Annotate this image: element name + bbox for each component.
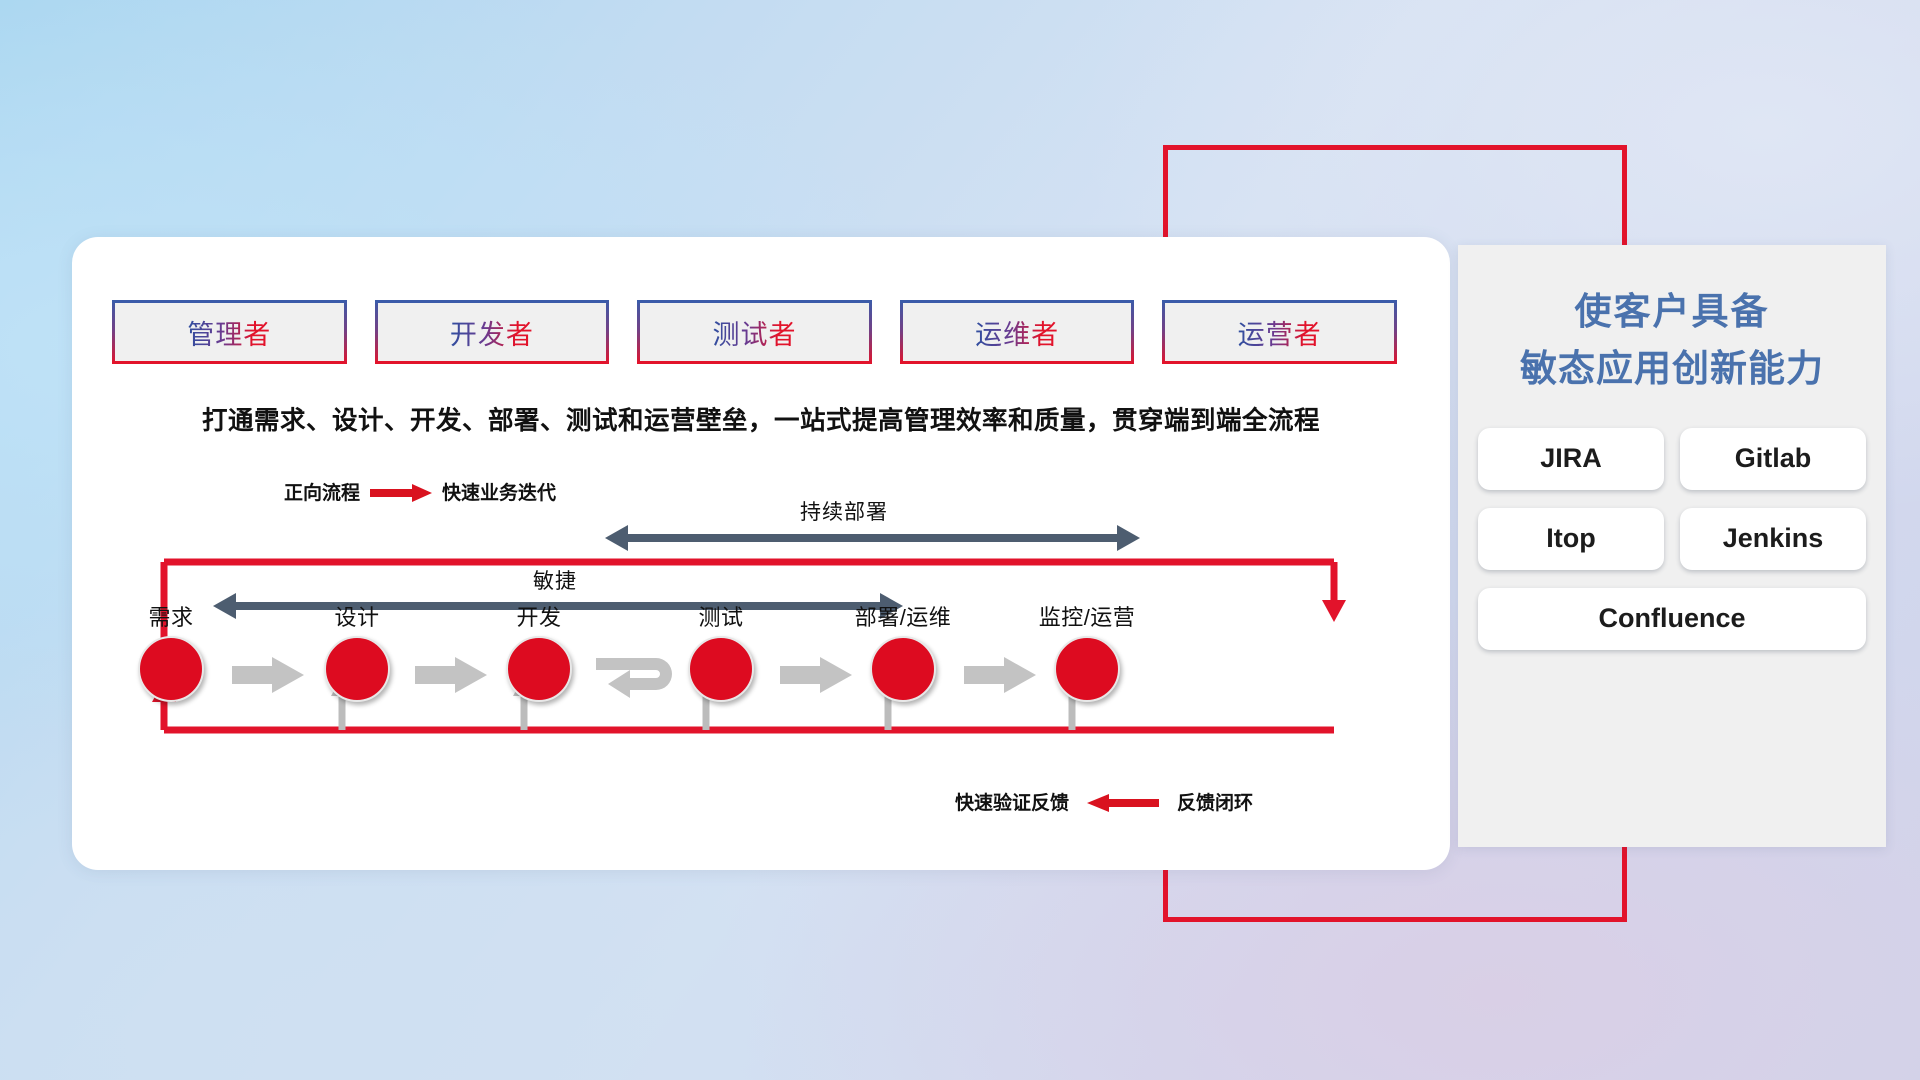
chip-bottom-border xyxy=(375,361,610,364)
chip-top-border xyxy=(375,300,610,303)
legend-forward-label: 正向流程 xyxy=(284,478,360,505)
tool-chip-gitlab[interactable]: Gitlab xyxy=(1680,428,1866,490)
legend-iteration-label: 快速业务迭代 xyxy=(442,478,556,505)
stage-deploy-ops[interactable]: 部署/运维 xyxy=(828,600,978,702)
stage-label: 设计 xyxy=(282,600,432,632)
role-label: 运营者 xyxy=(1238,313,1322,352)
band-caption-agile: 敏捷 xyxy=(533,565,577,595)
stage-label: 开发 xyxy=(464,600,614,632)
pipeline-track: 需求 设计 开发 测试 部署/运维 xyxy=(112,600,1412,720)
legend-feedback-label: 反馈闭环 xyxy=(1177,788,1253,815)
chip-top-border xyxy=(112,300,347,303)
role-chip-manager[interactable]: 管理者 xyxy=(112,300,347,364)
band-caption-continuous-deploy: 持续部署 xyxy=(800,496,888,526)
stage-label: 部署/运维 xyxy=(828,600,978,632)
chip-bottom-border xyxy=(1162,361,1397,364)
stage-design[interactable]: 设计 xyxy=(282,600,432,702)
chip-bottom-border xyxy=(637,361,872,364)
role-chip-operator[interactable]: 运维者 xyxy=(900,300,1135,364)
role-label: 运维者 xyxy=(975,313,1059,352)
legend-feedback-loop: 快速验证反馈 反馈闭环 xyxy=(955,788,1253,815)
chip-bottom-border xyxy=(900,361,1135,364)
arrow-left-red-icon xyxy=(1087,794,1159,810)
slide-canvas: 管理者 开发者 测试者 运维者 运营者 打通需求、设计、开发、部署、测试和运营壁… xyxy=(0,0,1920,1080)
tool-chip-jenkins[interactable]: Jenkins xyxy=(1680,508,1866,570)
stage-requirements[interactable]: 需求 xyxy=(96,600,246,702)
legend-forward-flow: 正向流程 快速业务迭代 xyxy=(284,478,556,505)
tool-chip-confluence[interactable]: Confluence xyxy=(1478,588,1866,650)
arrow-right-red-icon xyxy=(370,484,432,500)
stage-monitor-operate[interactable]: 监控/运营 xyxy=(1012,600,1162,702)
stage-label: 需求 xyxy=(96,600,246,632)
role-chip-business[interactable]: 运营者 xyxy=(1162,300,1397,364)
stage-test[interactable]: 测试 xyxy=(646,600,796,702)
legend-fast-validation-label: 快速验证反馈 xyxy=(955,788,1069,815)
stage-dot xyxy=(138,636,204,702)
stage-dot xyxy=(324,636,390,702)
tool-chip-itop[interactable]: Itop xyxy=(1478,508,1664,570)
panel-title-line2: 敏态应用创新能力 xyxy=(1458,340,1886,397)
stage-dot xyxy=(506,636,572,702)
stage-dot xyxy=(688,636,754,702)
tool-chip-grid: JIRA Gitlab Itop Jenkins Confluence xyxy=(1478,428,1866,650)
headline-text: 打通需求、设计、开发、部署、测试和运营壁垒，一站式提高管理效率和质量，贯穿端到端… xyxy=(72,400,1450,437)
panel-title-line1: 使客户具备 xyxy=(1458,283,1886,340)
chip-top-border xyxy=(900,300,1135,303)
stage-dot xyxy=(870,636,936,702)
chip-top-border xyxy=(1162,300,1397,303)
outcome-panel: 使客户具备 敏态应用创新能力 JIRA Gitlab Itop Jenkins … xyxy=(1458,245,1886,847)
span-arrow-continuous-deploy xyxy=(605,525,1140,551)
stage-label: 监控/运营 xyxy=(1012,600,1162,632)
chip-bottom-border xyxy=(112,361,347,364)
chip-top-border xyxy=(637,300,872,303)
role-chip-developer[interactable]: 开发者 xyxy=(375,300,610,364)
tool-chip-jira[interactable]: JIRA xyxy=(1478,428,1664,490)
role-label: 开发者 xyxy=(450,313,534,352)
role-chip-row: 管理者 开发者 测试者 运维者 运营者 xyxy=(112,300,1397,364)
role-chip-tester[interactable]: 测试者 xyxy=(637,300,872,364)
panel-title: 使客户具备 敏态应用创新能力 xyxy=(1458,283,1886,398)
stage-dot xyxy=(1054,636,1120,702)
role-label: 管理者 xyxy=(187,313,271,352)
role-label: 测试者 xyxy=(712,313,796,352)
stage-label: 测试 xyxy=(646,600,796,632)
